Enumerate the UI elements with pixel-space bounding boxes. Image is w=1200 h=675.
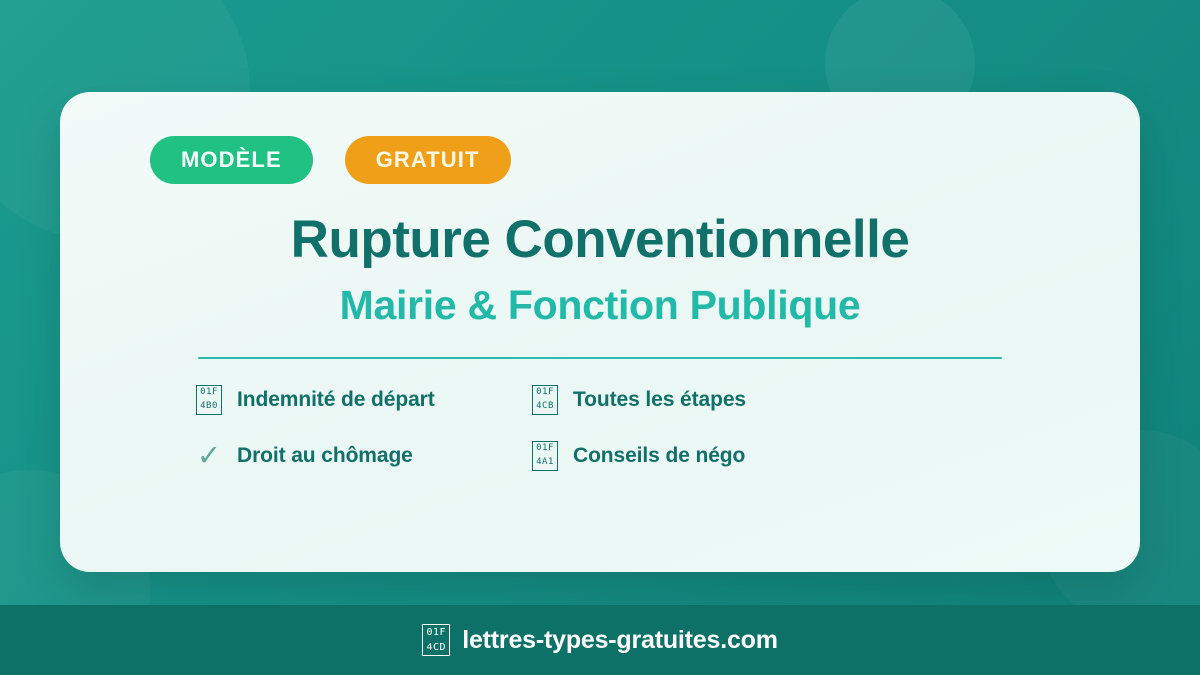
money-bag-icon: 01F 4B0	[196, 385, 222, 415]
feature-label-etapes: Toutes les étapes	[573, 388, 746, 412]
map-pin-icon-codepoint-top: 01F	[426, 628, 446, 638]
clipboard-icon-codepoint-top: 01F	[536, 388, 554, 397]
page-title: Rupture Conventionnelle	[112, 212, 1088, 268]
clipboard-icon-codepoint-bottom: 4CB	[536, 402, 554, 411]
badge-modele[interactable]: MODÈLE	[150, 136, 313, 184]
divider-rule	[198, 357, 1002, 359]
footer-content: 01F 4CD lettres-types-gratuites.com	[422, 624, 778, 656]
feature-label-chomage: Droit au chômage	[237, 444, 413, 468]
footer-band: 01F 4CD lettres-types-gratuites.com	[0, 605, 1200, 675]
footer-website-url[interactable]: lettres-types-gratuites.com	[462, 626, 778, 655]
money-bag-icon-codepoint-bottom: 4B0	[200, 402, 218, 411]
money-bag-icon-codepoint-top: 01F	[200, 388, 218, 397]
clipboard-icon: 01F 4CB	[532, 385, 558, 415]
feature-item-chomage: ✓ Droit au chômage	[196, 441, 532, 471]
feature-item-etapes: 01F 4CB Toutes les étapes	[532, 385, 1088, 415]
map-pin-icon: 01F 4CD	[422, 624, 450, 656]
feature-label-indemnite: Indemnité de départ	[237, 388, 435, 412]
light-bulb-icon: 01F 4A1	[532, 441, 558, 471]
badge-gratuit[interactable]: GRATUIT	[345, 136, 511, 184]
light-bulb-icon-codepoint-bottom: 4A1	[536, 458, 554, 467]
light-bulb-icon-codepoint-top: 01F	[536, 444, 554, 453]
feature-item-negociation: 01F 4A1 Conseils de négo	[532, 441, 1088, 471]
badge-group: MODÈLE GRATUIT	[150, 136, 1088, 184]
feature-list: 01F 4B0 Indemnité de départ 01F 4CB Tout…	[196, 385, 1088, 471]
poster-canvas: MODÈLE GRATUIT Rupture Conventionnelle M…	[0, 0, 1200, 675]
check-mark-icon: ✓	[196, 441, 222, 471]
feature-item-indemnite: 01F 4B0 Indemnité de départ	[196, 385, 532, 415]
map-pin-icon-codepoint-bottom: 4CD	[426, 643, 446, 653]
content-card: MODÈLE GRATUIT Rupture Conventionnelle M…	[60, 92, 1140, 572]
feature-label-negociation: Conseils de négo	[573, 444, 745, 468]
page-subtitle: Mairie & Fonction Publique	[112, 284, 1088, 327]
